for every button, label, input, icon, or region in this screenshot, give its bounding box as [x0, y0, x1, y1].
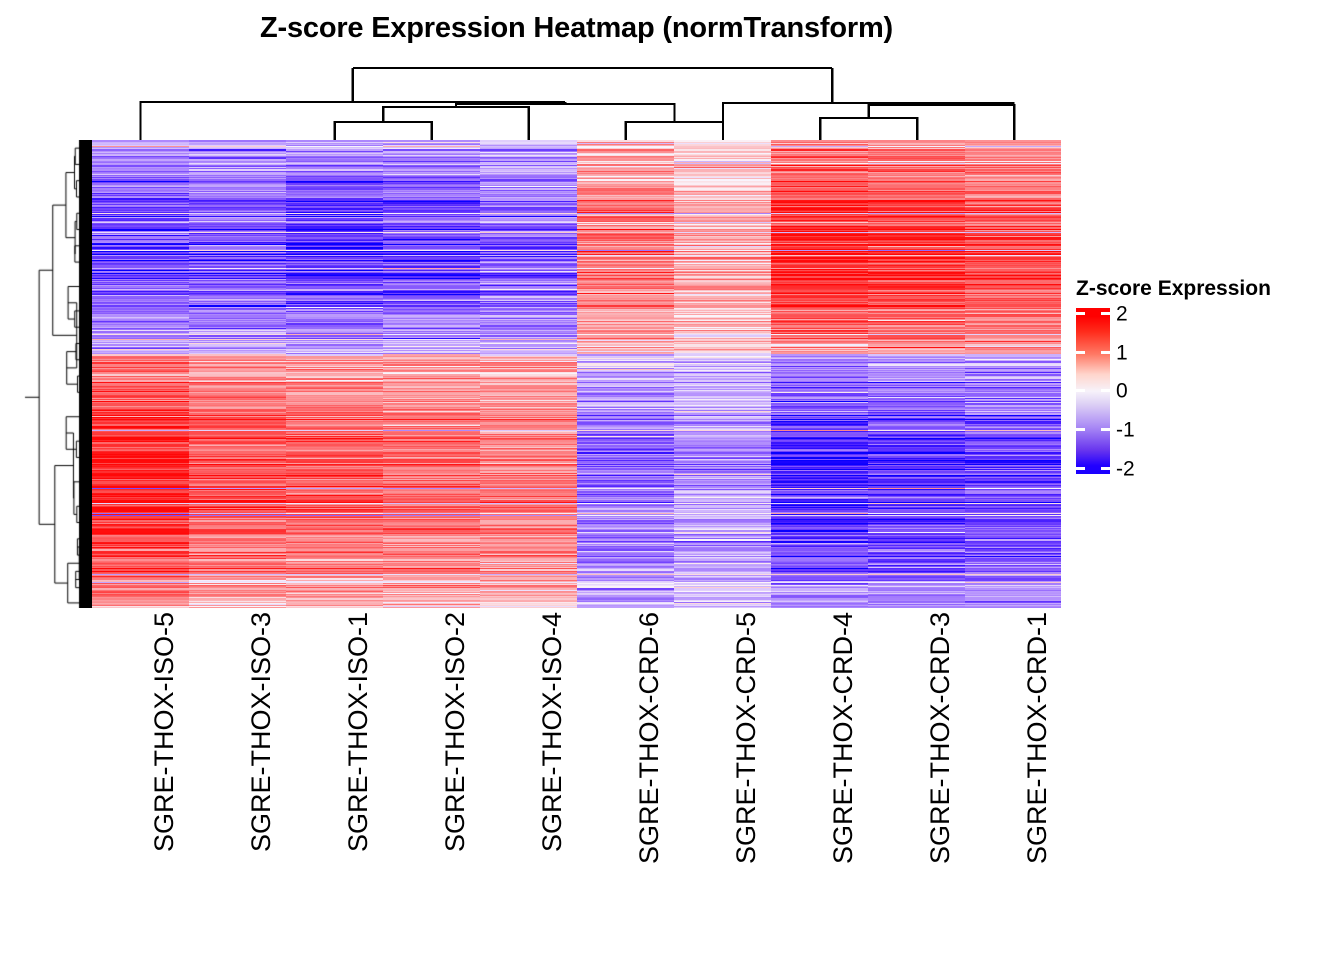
- column-label: SGRE-THOX-ISO-4: [539, 612, 566, 852]
- colorbar-tick-2-right: [1101, 312, 1110, 315]
- legend-body: 2 1 0 -1 -2: [1074, 308, 1324, 488]
- colorbar-tick-neg2-left: [1076, 467, 1085, 470]
- heatmap-figure: Z-score Expression Heatmap (normTransfor…: [0, 0, 1344, 960]
- column-label: SGRE-THOX-CRD-4: [830, 612, 857, 864]
- column-label: SGRE-THOX-ISO-1: [345, 612, 372, 852]
- colorbar-label-neg1: -1: [1116, 420, 1135, 441]
- legend-title: Z-score Expression: [1076, 278, 1324, 299]
- colorbar-tick-0-right: [1101, 389, 1110, 392]
- column-label: SGRE-THOX-CRD-5: [733, 612, 760, 864]
- legend: Z-score Expression 2 1 0 -1 -2: [1074, 278, 1324, 488]
- colorbar-tick-neg1-left: [1076, 428, 1085, 431]
- colorbar-label-0: 0: [1116, 381, 1128, 402]
- colorbar-tick-1-right: [1101, 351, 1110, 354]
- heatmap-canvas: [92, 140, 1061, 608]
- column-label: SGRE-THOX-CRD-1: [1024, 612, 1051, 864]
- colorbar-tick-1-left: [1076, 351, 1085, 354]
- colorbar-tick-0-left: [1076, 389, 1085, 392]
- column-label: SGRE-THOX-CRD-3: [927, 612, 954, 864]
- colorbar-label-2: 2: [1116, 304, 1128, 325]
- colorbar-label-neg2: -2: [1116, 459, 1135, 480]
- row-dendrogram-canvas: [24, 140, 92, 608]
- column-labels: SGRE-THOX-ISO-5SGRE-THOX-ISO-3SGRE-THOX-…: [92, 608, 1061, 938]
- row-dendrogram: [24, 140, 92, 608]
- colorbar-tick-neg1-right: [1101, 428, 1110, 431]
- column-dendrogram: [92, 60, 1061, 140]
- colorbar-tick-2-left: [1076, 312, 1085, 315]
- page-title: Z-score Expression Heatmap (normTransfor…: [92, 12, 1061, 45]
- column-label: SGRE-THOX-ISO-2: [442, 612, 469, 852]
- heatmap-grid: [92, 140, 1061, 608]
- column-label: SGRE-THOX-ISO-3: [248, 612, 275, 852]
- column-label: SGRE-THOX-CRD-6: [636, 612, 663, 864]
- colorbar-label-1: 1: [1116, 343, 1128, 364]
- colorbar-tick-neg2-right: [1101, 467, 1110, 470]
- column-label: SGRE-THOX-ISO-5: [151, 612, 178, 852]
- column-dendrogram-svg: [92, 60, 1061, 140]
